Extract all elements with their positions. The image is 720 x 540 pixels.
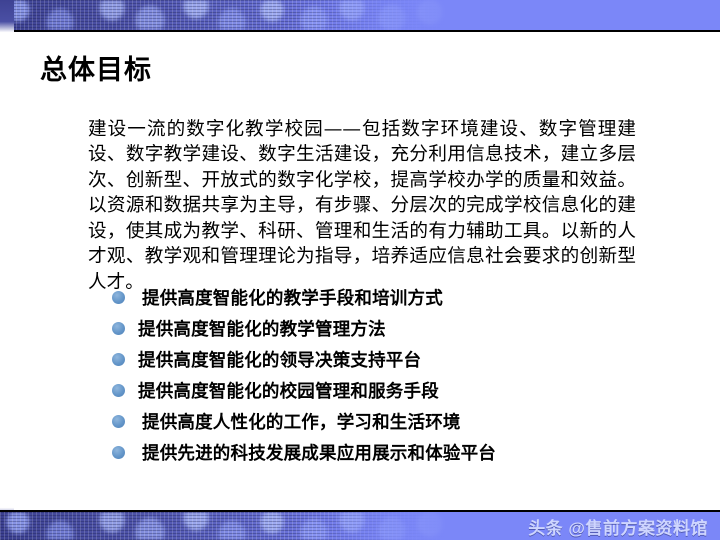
page-title: 总体目标 <box>40 56 152 86</box>
list-item: 提供高度智能化的校园管理和服务手段 <box>112 375 672 406</box>
header-divider-rule <box>0 30 720 32</box>
left-edge-strip <box>0 0 14 540</box>
bullet-dot-icon <box>112 446 125 459</box>
list-item-label: 提供高度智能化的校园管理和服务手段 <box>138 378 439 403</box>
list-item-label: 提供先进的科技发展成果应用展示和体验平台 <box>138 440 496 465</box>
body-paragraph: 建设一流的数字化教学校园——包括数字环境建设、数字管理建设、数字教学建设、数字生… <box>88 117 636 296</box>
list-item: 提供高度智能化的教学管理方法 <box>112 313 672 344</box>
list-item-label: 提供高度智能化的教学手段和培训方式 <box>138 285 443 310</box>
list-item: 提供高度智能化的教学手段和培训方式 <box>112 282 672 313</box>
goals-bullet-list: 提供高度智能化的教学手段和培训方式 提供高度智能化的教学管理方法 提供高度智能化… <box>112 282 672 468</box>
bullet-dot-icon <box>112 322 125 335</box>
list-item: 提供高度人性化的工作，学习和生活环境 <box>112 406 672 437</box>
list-item-label: 提供高度智能化的领导决策支持平台 <box>138 347 421 372</box>
watermark-text: 头条 @售前方案资料馆 <box>528 512 708 540</box>
slide: 总体目标 建设一流的数字化教学校园——包括数字环境建设、数字管理建设、数字教学建… <box>0 0 720 540</box>
list-item-label: 提供高度人性化的工作，学习和生活环境 <box>138 409 461 434</box>
list-item: 提供高度智能化的领导决策支持平台 <box>112 344 672 375</box>
bullet-dot-icon <box>112 415 125 428</box>
list-item: 提供先进的科技发展成果应用展示和体验平台 <box>112 437 672 468</box>
list-item-label: 提供高度智能化的教学管理方法 <box>138 316 386 341</box>
bullet-dot-icon <box>112 384 125 397</box>
bullet-dot-icon <box>112 353 125 366</box>
header-decorative-band <box>0 0 720 30</box>
bullet-dot-icon <box>112 291 125 304</box>
band-fade-overlay <box>0 0 720 30</box>
